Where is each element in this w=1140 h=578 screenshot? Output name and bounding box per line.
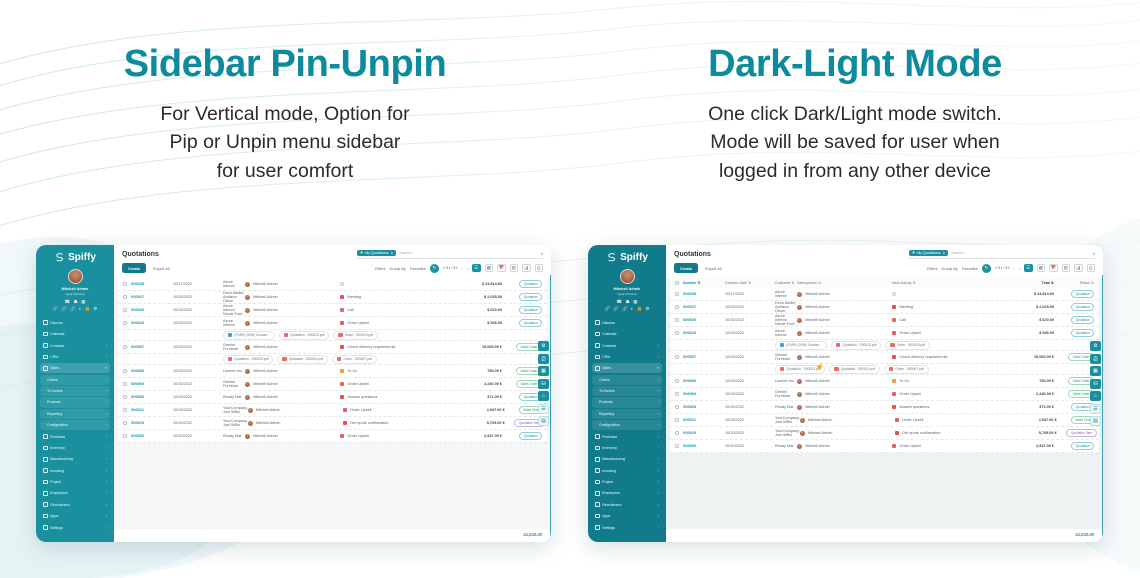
sidebar-item-to-invoice[interactable]: To Invoice›: [592, 386, 662, 396]
home-icon[interactable]: ☗: [74, 300, 78, 305]
pdf-file-icon: [284, 333, 288, 337]
attachment-chip[interactable]: Quotation - S00010.pdf: [829, 365, 879, 374]
chevron-right-icon[interactable]: ›: [106, 423, 107, 427]
sidebar-item-manufacturing[interactable]: Manufacturing›: [592, 454, 662, 464]
cell-salesperson: Mitchell Admin: [245, 321, 340, 326]
calendar-view-icon[interactable]: 📅: [497, 264, 506, 273]
table-row[interactable]: S0000210/10/2022Ready MatMitchell AdminO…: [118, 430, 547, 443]
next-activity-label: To Do: [347, 369, 357, 373]
table-row[interactable]: S0000310/15/2022Ready MatMitchell AdminA…: [670, 401, 1099, 414]
chevron-right-icon[interactable]: ›: [106, 526, 107, 530]
pdf-file-icon: [889, 367, 893, 371]
table-row[interactable]: S0001910/10/2022YourCompany, Joel Willis…: [670, 427, 1099, 440]
filter-icon: ⚑: [360, 251, 363, 255]
row-checkbox[interactable]: [675, 418, 683, 422]
cell-next-activity[interactable]: [892, 292, 1002, 296]
activity-view-icon[interactable]: ⏱: [1087, 264, 1096, 273]
sidebar-item-label: Products: [47, 400, 61, 404]
chevron-right-icon[interactable]: ›: [658, 457, 659, 461]
select-all-checkbox[interactable]: [675, 281, 683, 285]
table-row[interactable]: S0000610/15/2022Lumber IncMitchell Admin…: [118, 365, 547, 378]
status-badge: Quotation: [1071, 290, 1094, 298]
chevron-right-icon[interactable]: ›: [658, 480, 659, 484]
call-icon: [340, 308, 344, 312]
sidebar-item-inventory[interactable]: Inventory›: [592, 443, 662, 453]
link-icon[interactable]: 🔗: [622, 307, 628, 312]
pdf-file-icon: [228, 357, 232, 361]
printer-rail-icon[interactable]: ⎙: [1090, 354, 1101, 364]
sidebar-item-configuration[interactable]: Configuration›: [592, 420, 662, 430]
cell-next-activity[interactable]: Order Upsell: [340, 434, 450, 438]
calendar-view-icon[interactable]: 📅: [1049, 264, 1058, 273]
column-header-total[interactable]: Total ⇅: [1002, 281, 1054, 285]
graph-view-icon[interactable]: 📊: [522, 264, 531, 273]
cell-next-activity[interactable]: Get quote confirmation: [343, 421, 453, 425]
grid-icon[interactable]: ▦: [633, 300, 637, 305]
cell-next-activity[interactable]: Order Upsell: [340, 382, 450, 386]
refresh-icon[interactable]: ↻: [430, 264, 439, 273]
note-rail-icon[interactable]: ☰: [1090, 404, 1101, 414]
table-row[interactable]: S0000410/15/2022Gemini FurnitureMitchell…: [118, 378, 547, 391]
attachment-chip[interactable]: (FURN_0096) Custom...: [223, 331, 275, 340]
prev-page-button[interactable]: ‹: [461, 266, 462, 271]
cell-next-activity[interactable]: Order Upsell: [892, 392, 1002, 396]
column-header-creation-date[interactable]: Creation Date ⇅: [725, 281, 775, 285]
close-icon[interactable]: ✕: [942, 251, 945, 255]
avatar: [797, 331, 802, 336]
column-header-status[interactable]: Status ⇅: [1054, 281, 1094, 285]
row-checkbox[interactable]: [123, 369, 131, 373]
cell-status: Sales Order: [1054, 390, 1094, 398]
link-icon[interactable]: 🔗: [70, 307, 76, 312]
chevron-right-icon[interactable]: ›: [106, 480, 107, 484]
cell-next-activity[interactable]: Answer questions: [892, 405, 1002, 409]
cell-status: Quotation: [502, 319, 542, 327]
cell-next-activity[interactable]: Answer questions: [340, 395, 450, 399]
printer-rail-icon[interactable]: ⎙: [538, 354, 549, 364]
sidebar-item-invoicing[interactable]: Invoicing›: [40, 466, 110, 476]
wifi-icon[interactable]: ◐: [631, 307, 634, 312]
table-row[interactable]: S0002810/17/2022Azure InteriorMitchell A…: [118, 278, 547, 291]
link-icon[interactable]: 🔗: [53, 307, 59, 312]
row-checkbox[interactable]: [675, 405, 683, 409]
chevron-right-icon[interactable]: ›: [658, 355, 659, 359]
kanban-view-icon[interactable]: ▦: [485, 264, 494, 273]
row-checkbox[interactable]: [123, 345, 131, 349]
cell-salesperson: Mitchell Admin: [800, 418, 895, 423]
checkbox-icon: [675, 281, 679, 285]
avatar[interactable]: [620, 269, 635, 284]
chevron-right-icon[interactable]: ›: [658, 412, 659, 416]
cell-customer: Ready Mat: [775, 405, 797, 409]
checkbox-icon: [123, 282, 127, 286]
sidebar-item-discuss[interactable]: Discuss: [40, 318, 110, 328]
salesperson-name: Mitchell Admin: [253, 295, 277, 299]
next-activity-label: Answer questions: [347, 395, 377, 399]
export-all-button[interactable]: Export All: [150, 263, 172, 273]
salesperson-name: Mitchell Admin: [805, 379, 829, 383]
link-icon[interactable]: 🔗: [61, 307, 67, 312]
create-button[interactable]: Create: [674, 263, 698, 273]
row-checkbox[interactable]: [675, 379, 683, 383]
activity-view-icon[interactable]: ⏱: [535, 264, 544, 273]
chevron-right-icon[interactable]: ›: [106, 412, 107, 416]
search-facet[interactable]: ⚑ My Quotations ✕: [357, 250, 396, 256]
row-checkbox[interactable]: [123, 408, 131, 412]
attachment-chip[interactable]: Quotation - S00023.pdf: [223, 355, 273, 364]
brand-logo[interactable]: Spiffy: [36, 252, 114, 263]
user-name: Mitchell Admin: [588, 287, 666, 291]
table-row[interactable]: S0000310/15/2022Ready MatMitchell AdminA…: [118, 391, 547, 404]
sidebar-item-project[interactable]: Project›: [592, 477, 662, 487]
scrollbar[interactable]: [550, 275, 552, 542]
cell-next-activity[interactable]: To Do: [340, 369, 450, 373]
cell-next-activity[interactable]: To Do: [892, 379, 1002, 383]
sidebar-item-employees[interactable]: Employees›: [40, 488, 110, 498]
close-icon[interactable]: ✕: [390, 251, 393, 255]
chevron-right-icon[interactable]: ›: [658, 446, 659, 450]
avatar[interactable]: [68, 269, 83, 284]
cell-customer: Azure Interior, Nicole Ford: [775, 314, 797, 326]
hero-left-title: Sidebar Pin-Unpin: [0, 44, 570, 86]
cell-creation-date: 10/15/2022: [725, 405, 775, 409]
scrollbar[interactable]: [1102, 275, 1104, 542]
row-checkbox[interactable]: [675, 292, 683, 296]
cell-next-activity[interactable]: Order Upsell: [343, 408, 453, 412]
upsell-icon: [892, 331, 896, 335]
chevron-right-icon[interactable]: ›: [106, 389, 107, 393]
database-rail-icon[interactable]: ⛁: [1090, 379, 1101, 389]
link-icon[interactable]: 🔗: [605, 307, 611, 312]
sidebar-item-purchase[interactable]: Purchase›: [592, 431, 662, 441]
grid-icon[interactable]: ▦: [81, 300, 85, 305]
brand-name: Spiffy: [620, 252, 648, 263]
chevron-right-icon[interactable]: ›: [658, 435, 659, 439]
attachment-chip[interactable]: Quotation - S00023.pdf: [279, 331, 329, 340]
salesperson-name: Mitchell Admin: [805, 292, 829, 296]
chevron-right-icon[interactable]: ›: [658, 378, 659, 382]
cell-customer: Gemini Furniture: [223, 343, 245, 351]
cell-next-activity[interactable]: Get quote confirmation: [895, 431, 1005, 435]
row-checkbox[interactable]: [675, 431, 683, 435]
chevron-right-icon[interactable]: ›: [658, 469, 659, 473]
quick-icons-row-2: 🔗 🔗 🔗 ◐ 🔒 ⚙: [588, 307, 666, 312]
hero-right-line1: One click Dark/Light mode switch.: [708, 103, 1002, 125]
kanban-view-icon[interactable]: ▦: [1037, 264, 1046, 273]
chat-icon: [43, 320, 48, 325]
chevron-down-icon[interactable]: ▾: [105, 366, 107, 370]
search-bar[interactable]: ⚑ My Quotations ✕ Search... ▾: [909, 250, 1095, 259]
chevron-right-icon[interactable]: ›: [658, 344, 659, 348]
hero-right-title: Dark-Light Mode: [570, 44, 1140, 86]
checkbox-icon: [675, 355, 679, 359]
cell-next-activity[interactable]: Check delivery requirements: [340, 345, 450, 349]
sidebar-item-manufacturing[interactable]: Manufacturing›: [40, 454, 110, 464]
search-facet[interactable]: ⚑ My Quotations ✕: [909, 250, 948, 256]
row-checkbox[interactable]: [123, 308, 131, 312]
gear-icon[interactable]: ⚙: [645, 307, 649, 312]
chevron-right-icon[interactable]: ›: [658, 526, 659, 530]
wifi-icon[interactable]: ◐: [79, 307, 82, 312]
sidebar-item-settings[interactable]: Settings›: [592, 522, 662, 532]
cell-next-activity[interactable]: Order Upsell: [892, 444, 1002, 448]
question-icon: [892, 405, 896, 409]
chevron-right-icon[interactable]: ›: [106, 344, 107, 348]
attachment-chip[interactable]: Order - S00007.pdf: [884, 365, 929, 374]
cell-customer: Lumber Inc: [223, 369, 245, 373]
next-page-button[interactable]: ›: [1019, 266, 1020, 271]
status-badge: Quotation: [519, 293, 542, 301]
chart-rail-icon[interactable]: ▤: [1090, 416, 1101, 426]
table-row[interactable]: S0002310/15/2022Azure InteriorMitchell A…: [670, 327, 1099, 340]
sidebar-item-recruitment[interactable]: Recruitment›: [592, 500, 662, 510]
salesperson-name: Mitchell Admin: [253, 434, 277, 438]
sidebar-item-label: Reporting: [599, 412, 614, 416]
settings-rail-icon[interactable]: ⚙: [1090, 341, 1101, 351]
chevron-right-icon[interactable]: ›: [658, 503, 659, 507]
attachment-chip[interactable]: Quotation - S00023.pdf: [831, 341, 881, 350]
table-row[interactable]: S0000610/15/2022Lumber IncMitchell Admin…: [670, 375, 1099, 388]
phone-icon[interactable]: ☎: [616, 300, 622, 305]
refresh-icon[interactable]: ↻: [982, 264, 991, 273]
prev-page-button[interactable]: ‹: [1013, 266, 1014, 271]
column-header-customer[interactable]: Customer ⇅: [775, 281, 797, 285]
row-checkbox[interactable]: [675, 318, 683, 322]
chevron-right-icon[interactable]: ›: [106, 457, 107, 461]
chevron-right-icon[interactable]: ›: [106, 514, 107, 518]
row-checkbox[interactable]: [123, 321, 131, 325]
building-rail-icon[interactable]: ⌂: [1090, 391, 1101, 401]
sidebar-item-to-invoice[interactable]: To Invoice›: [40, 386, 110, 396]
sidebar-item-crm[interactable]: CRM›: [40, 352, 110, 362]
column-header-next-activity[interactable]: Next Activity ⇅: [892, 281, 1002, 285]
row-checkbox[interactable]: [675, 392, 683, 396]
chevron-right-icon[interactable]: ›: [658, 491, 659, 495]
checkbox-icon: [123, 345, 127, 349]
row-checkbox[interactable]: [123, 282, 131, 286]
app-main-light: Quotations ⚑ My Quotations ✕ Search... ▾…: [114, 245, 551, 542]
database-rail-icon[interactable]: ⛁: [538, 379, 549, 389]
chart-rail-icon[interactable]: ▤: [538, 416, 549, 426]
row-checkbox[interactable]: [675, 355, 683, 359]
chevron-right-icon[interactable]: ›: [106, 435, 107, 439]
table-row[interactable]: S0002610/15/2022Azure Interior, Nicole F…: [118, 304, 547, 317]
avatar: [245, 382, 250, 387]
lock-icon[interactable]: 🔒: [637, 307, 643, 312]
export-all-button[interactable]: Export All: [702, 263, 724, 273]
cell-total: $ 620.00: [450, 308, 502, 312]
note-rail-icon[interactable]: ☰: [538, 404, 549, 414]
chevron-right-icon[interactable]: ›: [106, 469, 107, 473]
table-row[interactable]: S0001110/15/2022YourCompany, Joel Willis…: [670, 414, 1099, 427]
sidebar-item-calendar[interactable]: Calendar: [592, 329, 662, 339]
sidebar-item-products[interactable]: Products›: [592, 397, 662, 407]
chevron-right-icon[interactable]: ›: [658, 389, 659, 393]
table-row[interactable]: S0001910/10/2022YourCompany, Joel Willis…: [118, 417, 547, 430]
pivot-view-icon[interactable]: ▤: [1062, 264, 1071, 273]
grid-rail-icon[interactable]: ▦: [538, 366, 549, 376]
row-checkbox[interactable]: [675, 331, 683, 335]
table-row[interactable]: S0002710/15/2022Deco Addict, Addison Ols…: [118, 291, 547, 304]
gear-icon[interactable]: ⚙: [93, 307, 97, 312]
sidebar-item-inventory[interactable]: Inventory›: [40, 443, 110, 453]
next-activity-label: Order Upsell: [899, 444, 920, 448]
cell-number: S00026: [131, 308, 173, 312]
sidebar-item-orders[interactable]: Orders›: [592, 375, 662, 385]
table-row[interactable]: S0002610/15/2022Azure Interior, Nicole F…: [670, 314, 1099, 327]
row-checkbox[interactable]: [123, 421, 131, 425]
groupby-button[interactable]: Group By: [389, 266, 405, 271]
app-topbar: Quotations ⚑ My Quotations ✕ Search... ▾…: [666, 245, 1103, 278]
sidebar-item-orders[interactable]: Orders›: [40, 375, 110, 385]
chevron-right-icon[interactable]: ›: [106, 446, 107, 450]
building-rail-icon[interactable]: ⌂: [538, 391, 549, 401]
next-activity-label: Check delivery requirements: [899, 355, 947, 359]
chevron-right-icon[interactable]: ›: [658, 400, 659, 404]
sidebar-item-project[interactable]: Project›: [40, 477, 110, 487]
cell-total: 5,705.00 €: [1005, 431, 1057, 435]
chevron-right-icon[interactable]: ›: [658, 423, 659, 427]
brand-logo[interactable]: Spiffy: [588, 252, 666, 263]
row-checkbox[interactable]: [123, 382, 131, 386]
table-row[interactable]: S0002310/15/2022Azure InteriorMitchell A…: [118, 317, 547, 330]
cell-next-activity[interactable]: Meeting: [892, 305, 1002, 309]
list-view-icon[interactable]: ☰: [1024, 264, 1033, 273]
sidebar-item-sales[interactable]: Sales▾: [40, 363, 110, 373]
attachment-chip[interactable]: (FURN_0096) Custom...: [775, 341, 827, 350]
next-page-button[interactable]: ›: [467, 266, 468, 271]
chevron-right-icon[interactable]: ›: [106, 503, 107, 507]
salesperson-name: Mitchell Admin: [253, 345, 277, 349]
table-row[interactable]: S0002710/15/2022Deco Addict, Addison Ols…: [670, 301, 1099, 314]
table-row[interactable]: S0000710/15/2022Gemini FurnitureMitchell…: [118, 341, 547, 354]
column-header-salesperson[interactable]: Salesperson ⇅: [797, 281, 892, 285]
calendar-icon: [43, 332, 48, 337]
table-row[interactable]: S0002810/17/2022Azure InteriorMitchell A…: [670, 288, 1099, 301]
cell-next-activity[interactable]: Meeting: [340, 295, 450, 299]
cell-next-activity[interactable]: Order Upsell: [895, 418, 1005, 422]
sidebar-item-settings[interactable]: Settings›: [40, 522, 110, 532]
table-row[interactable]: S0000710/15/2022Gemini FurnitureMitchell…: [670, 351, 1099, 364]
cell-next-activity[interactable]: Call: [892, 318, 1002, 322]
sidebar-item-employees[interactable]: Employees›: [592, 488, 662, 498]
sidebar-item-apps[interactable]: Apps›: [40, 511, 110, 521]
checkbox-icon: [123, 434, 127, 438]
filters-button[interactable]: Filters: [927, 266, 938, 271]
create-button[interactable]: Create: [122, 263, 146, 273]
cell-next-activity[interactable]: [340, 282, 450, 286]
graph-view-icon[interactable]: 📊: [1074, 264, 1083, 273]
link-icon[interactable]: 🔗: [613, 307, 619, 312]
table-row[interactable]: S0000210/10/2022Ready MatMitchell AdminO…: [670, 440, 1099, 453]
sidebar-item-contacts[interactable]: Contacts›: [40, 340, 110, 350]
table-footer: 41,032.00: [666, 529, 1103, 542]
sidebar-item-contacts[interactable]: Contacts›: [592, 340, 662, 350]
sidebar-item-crm[interactable]: CRM›: [592, 352, 662, 362]
sidebar-item-label: Orders: [599, 378, 610, 382]
attachment-chip[interactable]: Order - S00007.pdf: [332, 355, 377, 364]
sidebar-item-discuss[interactable]: Discuss: [592, 318, 662, 328]
grid-rail-icon[interactable]: ▦: [1090, 366, 1101, 376]
sidebar-item-label: Project: [50, 480, 61, 484]
attachment-chip[interactable]: Order - S00019.pdf: [885, 341, 930, 350]
salesperson-name: Mitchell Admin: [253, 282, 277, 286]
list-view-icon[interactable]: ☰: [472, 264, 481, 273]
search-input[interactable]: Search...: [399, 251, 414, 255]
home-icon[interactable]: ☗: [626, 300, 630, 305]
sidebar-item-sales[interactable]: Sales▾: [592, 363, 662, 373]
table-row[interactable]: S0001110/15/2022YourCompany, Joel Willis…: [118, 404, 547, 417]
cell-next-activity[interactable]: Check delivery requirements: [892, 355, 1002, 359]
chevron-right-icon[interactable]: ›: [106, 378, 107, 382]
chevron-right-icon[interactable]: ›: [658, 514, 659, 518]
row-checkbox[interactable]: [675, 444, 683, 448]
cell-next-activity[interactable]: Call: [340, 308, 450, 312]
attachment-label: Order - S00019.pdf: [345, 333, 373, 337]
row-checkbox[interactable]: [123, 434, 131, 438]
cell-next-activity[interactable]: Order Upsell: [892, 331, 1002, 335]
next-activity-label: Meeting: [899, 305, 913, 309]
invoicing-icon: [595, 468, 600, 473]
groupby-button[interactable]: Group By: [941, 266, 957, 271]
row-checkbox[interactable]: [123, 395, 131, 399]
sidebar-item-reporting[interactable]: Reporting›: [592, 409, 662, 419]
attachment-chip[interactable]: Order - S00019.pdf: [333, 331, 378, 340]
column-header-number[interactable]: Number ⇅: [683, 281, 725, 285]
sidebar-item-invoicing[interactable]: Invoicing›: [592, 466, 662, 476]
cell-creation-date: 10/15/2022: [173, 408, 223, 412]
sidebar-item-products[interactable]: Products›: [40, 397, 110, 407]
sidebar-item-reporting[interactable]: Reporting›: [40, 409, 110, 419]
chevron-right-icon[interactable]: ›: [106, 400, 107, 404]
filters-button[interactable]: Filters: [375, 266, 386, 271]
settings-rail-icon[interactable]: ⚙: [538, 341, 549, 351]
favorites-button[interactable]: Favorites: [410, 266, 426, 271]
sidebar-item-apps[interactable]: Apps›: [592, 511, 662, 521]
chevron-right-icon[interactable]: ›: [106, 491, 107, 495]
chat-icon: [595, 320, 600, 325]
status-badge: Quotation: [1071, 442, 1094, 450]
cell-next-activity[interactable]: Order Upsell: [340, 321, 450, 325]
phone-icon[interactable]: ☎: [64, 300, 70, 305]
search-bar[interactable]: ⚑ My Quotations ✕ Search... ▾: [357, 250, 543, 259]
sidebar-item-purchase[interactable]: Purchase›: [40, 431, 110, 441]
row-checkbox[interactable]: [675, 305, 683, 309]
lock-icon[interactable]: 🔒: [85, 307, 91, 312]
chevron-down-icon[interactable]: ▾: [657, 366, 659, 370]
table-row[interactable]: S0000410/15/2022Gemini FurnitureMitchell…: [670, 388, 1099, 401]
sales-icon: [43, 366, 48, 371]
favorites-button[interactable]: Favorites: [962, 266, 978, 271]
sidebar-item-configuration[interactable]: Configuration›: [40, 420, 110, 430]
sidebar-item-label: Recruitment: [50, 503, 69, 507]
sidebar-item-calendar[interactable]: Calendar: [40, 329, 110, 339]
sidebar-item-label: Configuration: [47, 423, 68, 427]
attachment-chip[interactable]: Quotation - S00010.pdf: [277, 355, 327, 364]
sidebar-item-recruitment[interactable]: Recruitment›: [40, 500, 110, 510]
sidebar-item-label: Inventory: [602, 446, 617, 450]
row-checkbox[interactable]: [123, 295, 131, 299]
chevron-down-icon[interactable]: ▾: [541, 251, 543, 256]
chevron-right-icon[interactable]: ›: [106, 355, 107, 359]
search-input[interactable]: Search...: [951, 251, 966, 255]
chevron-down-icon[interactable]: ▾: [1093, 251, 1095, 256]
sidebar-item-label: Employees: [602, 491, 620, 495]
attachment-label: Quotation - S00023.pdf: [842, 343, 876, 347]
pivot-view-icon[interactable]: ▤: [510, 264, 519, 273]
app-topbar: Quotations ⚑ My Quotations ✕ Search... ▾…: [114, 245, 551, 278]
quotations-table: Number ⇅Creation Date ⇅Customer ⇅Salespe…: [666, 278, 1103, 529]
